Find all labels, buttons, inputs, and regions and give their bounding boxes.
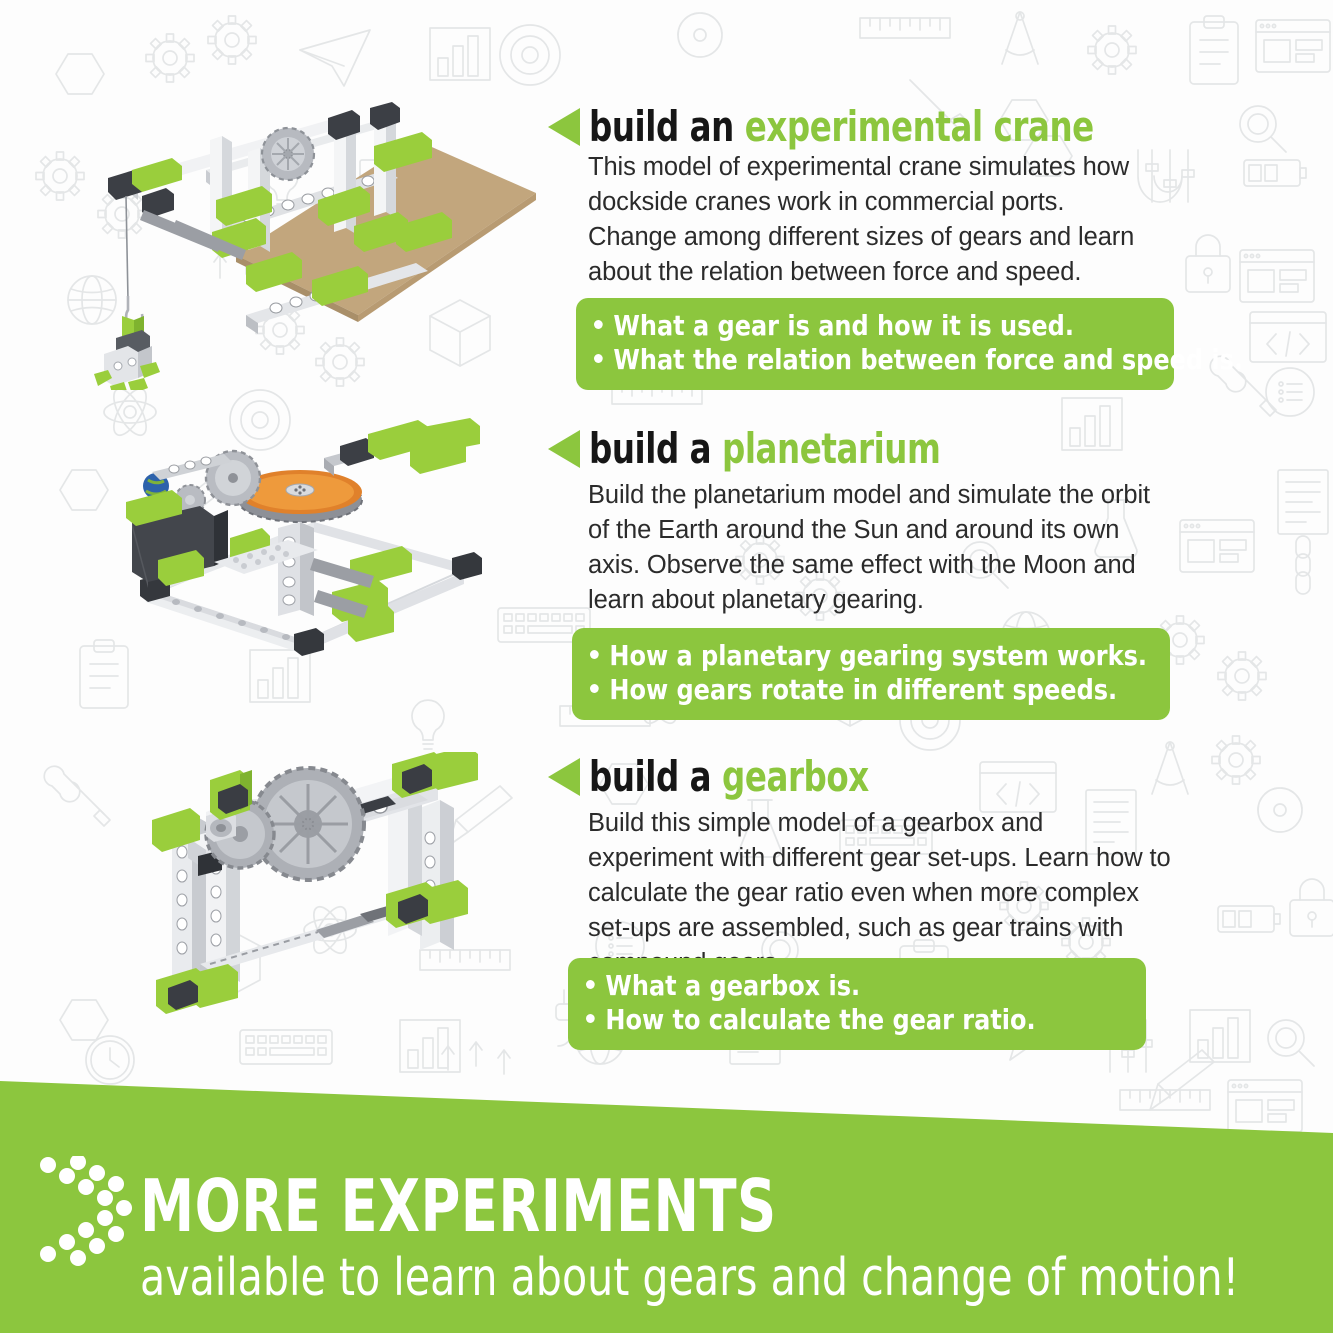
dotted-chevron-right-icon (38, 1156, 142, 1272)
list-item: What a gearbox is. (586, 969, 1112, 1003)
banner-title: MORE EXPERIMENTS (140, 1170, 777, 1242)
gearbox-body-text: Build this simple model of a gearbox and… (588, 806, 1173, 981)
gearbox-heading: build a gearbox (548, 756, 914, 798)
triangle-marker-icon (548, 758, 580, 796)
gearbox-bullet-box: What a gearbox is. How to calculate the … (568, 958, 1146, 1050)
gearbox-model-image (148, 752, 548, 1032)
gearbox-heading-accent: gearbox (722, 752, 869, 801)
list-item: How to calculate the gear ratio. (586, 1003, 1112, 1037)
infographic-page: build an experimental crane This model o… (0, 0, 1333, 1333)
gearbox-bullet-2: How to calculate the gear ratio. (605, 1003, 1035, 1037)
bullet-dot-icon (586, 980, 595, 989)
section-gearbox: build a gearbox Build this simple model … (0, 0, 1333, 1050)
gearbox-heading-lead: build a (589, 752, 722, 801)
banner-subtitle: available to learn about gears and chang… (140, 1250, 1239, 1306)
gearbox-bullet-1: What a gearbox is. (605, 969, 860, 1003)
bullet-dot-icon (586, 1014, 595, 1023)
more-experiments-banner: MORE EXPERIMENTS available to learn abou… (0, 1060, 1333, 1333)
